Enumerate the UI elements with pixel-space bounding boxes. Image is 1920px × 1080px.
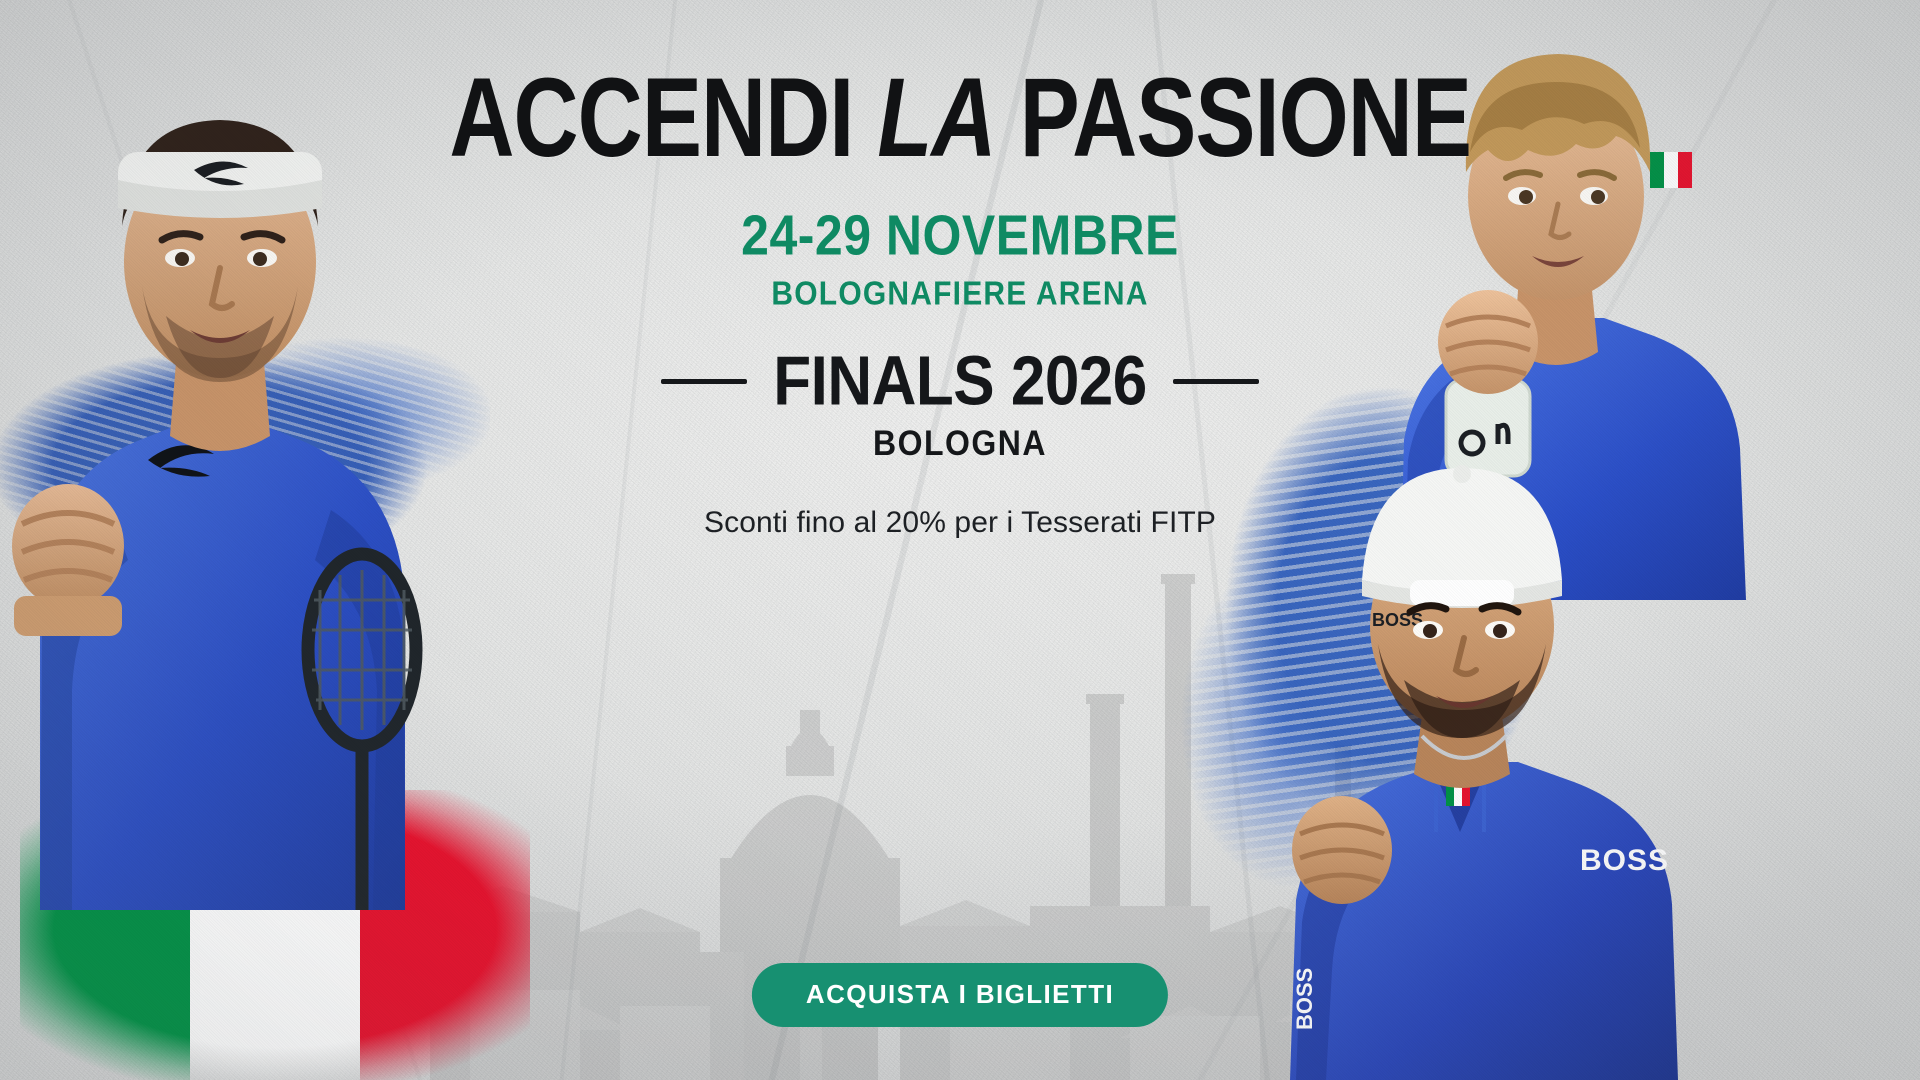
event-title: FINALS 2026 — [773, 342, 1147, 422]
event-date-range: 24-29 NOVEMBRE — [741, 202, 1179, 268]
headline: ACCENDI LA PASSIONE — [449, 62, 1471, 174]
event-venue: BOLOGNAFIERE ARENA — [771, 276, 1148, 313]
headline-italic-word: LA — [877, 56, 995, 180]
poster-banner: BOSS BOSS — [0, 0, 1920, 1080]
headline-part-2: PASSIONE — [995, 56, 1470, 180]
discount-note: Sconti fino al 20% per i Tesserati FITP — [704, 506, 1216, 540]
rule-left — [661, 379, 747, 384]
headline-part-1: ACCENDI — [449, 56, 877, 180]
rule-right — [1173, 379, 1259, 384]
event-city: BOLOGNA — [873, 423, 1047, 464]
buy-tickets-button[interactable]: ACQUISTA I BIGLIETTI — [752, 963, 1168, 1027]
event-title-row: FINALS 2026 — [661, 346, 1259, 417]
